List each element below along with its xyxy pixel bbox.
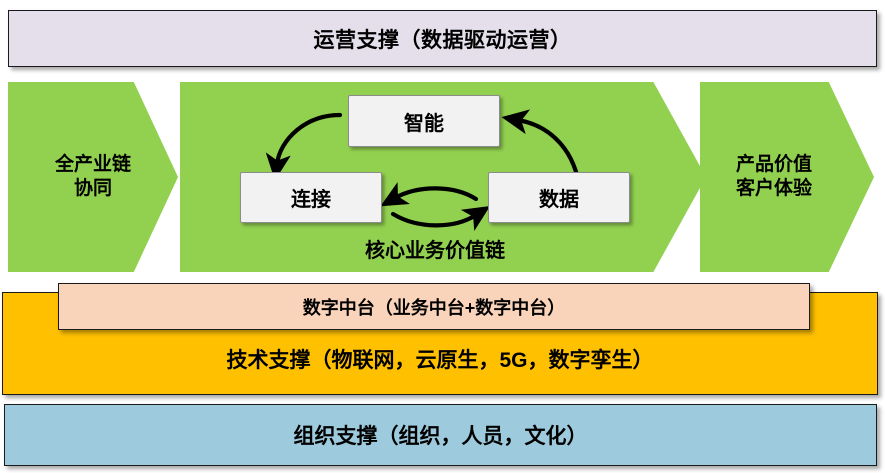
node-data: 数据 [488, 172, 630, 223]
organization-support-label: 组织支撑（组织，人员，文化） [294, 420, 588, 450]
chevron-full-industry-chain: 全产业链 协同 [8, 82, 178, 272]
chevron-right-line1: 产品价值 [736, 153, 812, 177]
core-value-chain-caption: 核心业务价值链 [240, 234, 630, 263]
chevron-left-line1: 全产业链 [55, 153, 131, 177]
chevron-product-value-customer-experience: 产品价值 客户体验 [700, 82, 874, 272]
node-connection: 连接 [240, 172, 382, 223]
chevron-right-line2: 客户体验 [736, 177, 812, 201]
operations-support-band: 运营支撑（数据驱动运营） [8, 10, 877, 67]
diagram-canvas: 运营支撑（数据驱动运营） 全产业链 协同 智能 连接 数据 核心业务价值链 [0, 0, 885, 473]
node-intelligence-label: 智能 [404, 107, 444, 136]
digital-middle-platform-label: 数字中台（业务中台+数字中台） [303, 294, 566, 320]
node-intelligence: 智能 [348, 95, 500, 147]
chevron-right-label-group: 产品价值 客户体验 [736, 153, 812, 201]
technology-support-label: 技术支撑（物联网，云原生，5G，数字孪生） [226, 344, 653, 374]
node-data-label: 数据 [539, 183, 579, 212]
operations-support-label: 运营支撑（数据驱动运营） [314, 24, 572, 54]
node-connection-label: 连接 [291, 183, 331, 212]
chevron-left-line2: 协同 [55, 177, 131, 201]
organization-support-band: 组织支撑（组织，人员，文化） [4, 404, 877, 466]
chevron-left-label-group: 全产业链 协同 [55, 153, 131, 201]
digital-middle-platform-band: 数字中台（业务中台+数字中台） [58, 283, 810, 330]
